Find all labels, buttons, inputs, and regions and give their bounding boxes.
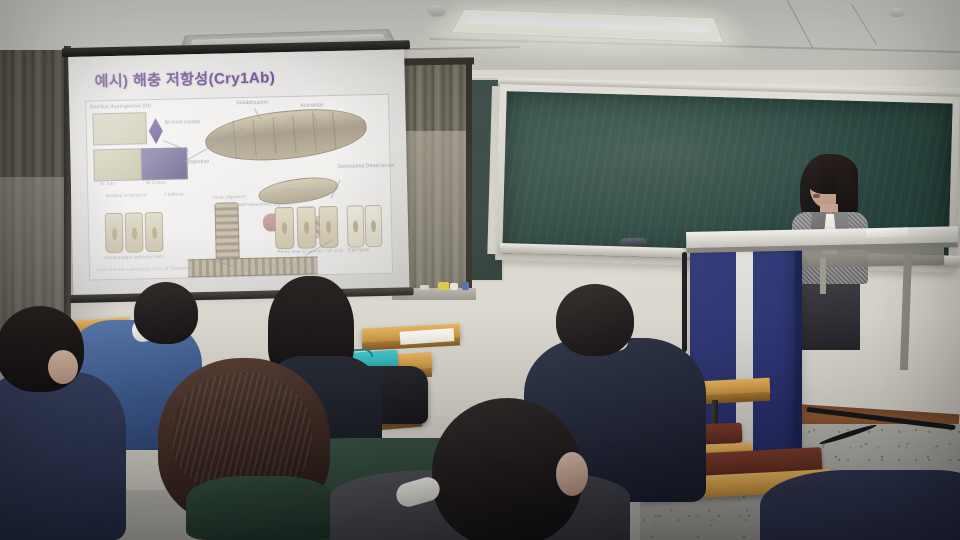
student-head [556,284,634,356]
student-ear-cheek [48,350,78,384]
presenter-skirt [798,280,860,350]
presenter-mouth [813,194,820,198]
projection-screen-surface: 예시) 해충 저항성(Cry1Ab) Bacillus thuringiensi… [68,49,409,297]
window-left-curtain [0,50,68,338]
lectern-leg [820,258,826,294]
student-body [760,470,960,540]
window-middle-frame [466,60,472,294]
podium-cable [682,252,687,352]
student-hair-strands [172,372,312,492]
papers-on-lectern [866,227,908,237]
smoke-detector-icon [890,8,904,17]
window-middle-curtain [398,62,470,292]
student-body [0,372,126,540]
student-collar [186,476,336,540]
student-ear [556,452,588,496]
windowsill-item [438,282,449,290]
podium-right-edge [795,246,802,462]
fluorescent-tube [467,15,709,32]
student-head [134,282,198,344]
windowsill-item [462,282,469,290]
microphone-on-lectern [620,238,646,247]
window-middle-header [396,57,474,65]
smoke-detector-icon [429,5,445,15]
screen-vignette [68,49,409,297]
projection-screen: 예시) 해충 저항성(Cry1Ab) Bacillus thuringiensi… [68,44,409,304]
windowsill-item [450,283,458,290]
classroom-lecture-photo: 예시) 해충 저항성(Cry1Ab) Bacillus thuringiensi… [0,0,960,540]
windowsill-item [420,285,429,290]
